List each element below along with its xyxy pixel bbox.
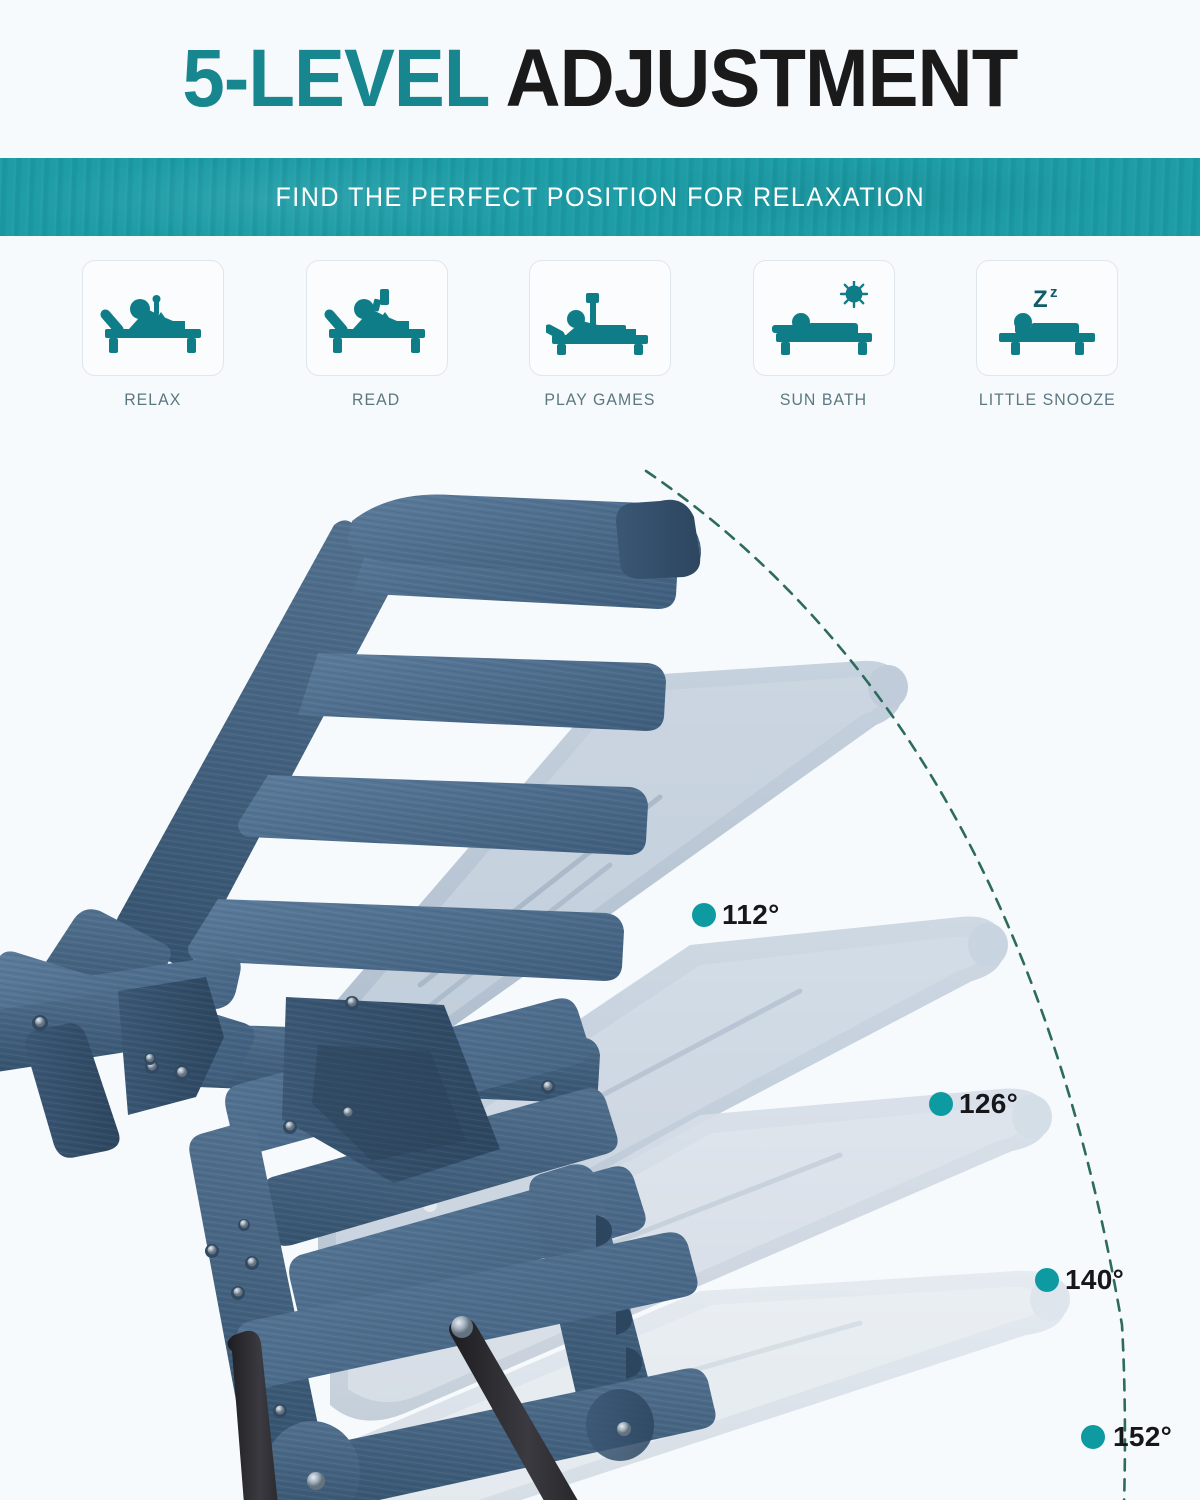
feature-tile-little-snooze[interactable]: Z z: [976, 260, 1118, 376]
angle-marker-140: 140°: [1035, 1264, 1124, 1295]
angle-marker-112: 112°: [692, 899, 780, 930]
chair-wheel-right: [586, 1389, 654, 1461]
angle-label-112: 112°: [722, 899, 780, 930]
angle-label-126: 126°: [959, 1088, 1018, 1119]
person-reclining-phone-icon: [546, 281, 654, 355]
person-reclining-reading-icon: [323, 281, 431, 355]
feature-label-play-games: PLAY GAMES: [544, 391, 655, 410]
subtitle-banner: FIND THE PERFECT POSITION FOR RELAXATION: [0, 158, 1200, 236]
feature-item-sun-bath[interactable]: SUN BATH: [749, 260, 899, 410]
feature-icon-row: RELAX READ: [0, 236, 1200, 410]
feature-label-sun-bath: SUN BATH: [780, 391, 867, 410]
chair-illustration-stage: 112° 126° 140° 152° 180°: [0, 425, 1200, 1500]
feature-tile-read[interactable]: [306, 260, 448, 376]
header-banner: 5-LEVEL ADJUSTMENT: [0, 0, 1200, 158]
feature-tile-relax[interactable]: [82, 260, 224, 376]
person-lying-sun-icon: [770, 281, 878, 355]
feature-item-little-snooze[interactable]: Z z LITTLE SNOOZE: [972, 260, 1122, 410]
page-title: 5-LEVEL ADJUSTMENT: [183, 38, 1018, 120]
angle-label-152: 152°: [1113, 1421, 1172, 1452]
subtitle-text: FIND THE PERFECT POSITION FOR RELAXATION: [275, 182, 925, 213]
snooze-z-small: z: [1050, 284, 1058, 301]
person-lying-sleep-icon: Z z: [993, 281, 1101, 355]
feature-label-little-snooze: LITTLE SNOOZE: [979, 391, 1116, 410]
angle-dot-126: [929, 1092, 953, 1116]
angle-marker-126: 126°: [929, 1088, 1018, 1119]
feature-label-read: READ: [352, 391, 400, 410]
snooze-z-big: Z: [1033, 286, 1048, 313]
feature-item-read[interactable]: READ: [302, 260, 452, 410]
angle-dot-140: [1035, 1268, 1059, 1292]
angle-label-140: 140°: [1065, 1264, 1124, 1295]
chaise-lounge-chair: [0, 495, 716, 1500]
feature-item-play-games[interactable]: PLAY GAMES: [525, 260, 675, 410]
feature-tile-play-games[interactable]: [529, 260, 671, 376]
feature-item-relax[interactable]: RELAX: [78, 260, 228, 410]
recliner-diagram: 112° 126° 140° 152° 180°: [0, 425, 1200, 1500]
angle-marker-152: 152°: [1081, 1421, 1172, 1452]
person-reclining-relax-icon: [99, 281, 207, 355]
title-rest: ADJUSTMENT: [488, 33, 1017, 124]
angle-dot-112: [692, 903, 716, 927]
feature-tile-sun-bath[interactable]: [753, 260, 895, 376]
title-accent: 5-LEVEL: [183, 33, 489, 124]
feature-label-relax: RELAX: [124, 391, 181, 410]
angle-dot-152: [1081, 1425, 1105, 1449]
